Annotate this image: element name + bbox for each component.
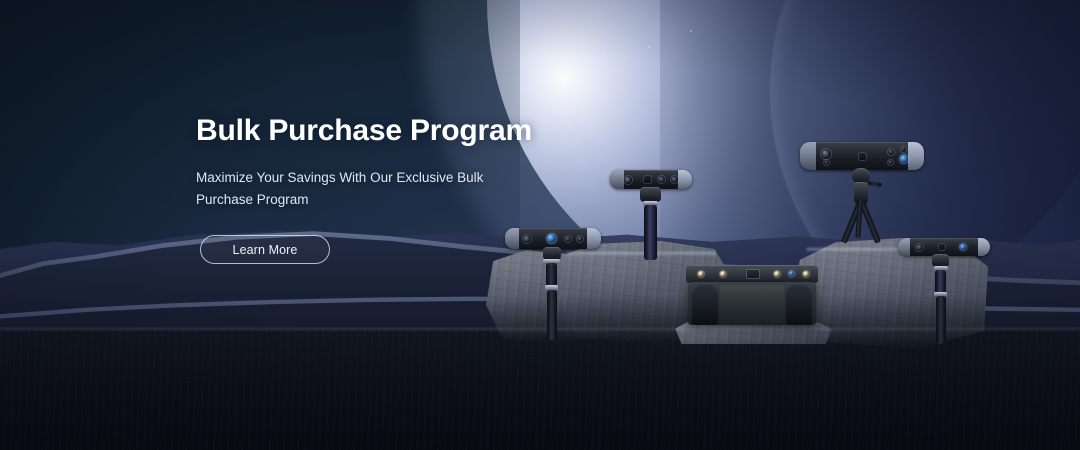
hero-copy: Bulk Purchase Program Maximize Your Savi…	[196, 112, 616, 211]
camera-lens	[624, 176, 632, 184]
page-title: Bulk Purchase Program	[196, 112, 616, 150]
stand-pole	[644, 205, 657, 260]
scanner-case	[686, 265, 818, 325]
scanner-end-cap-right	[587, 228, 601, 249]
scanner-right	[898, 238, 990, 344]
tripod-pan-handle	[868, 181, 882, 187]
stand-pole	[935, 270, 946, 294]
scanner-case-panel	[720, 285, 784, 325]
camera-lens	[888, 149, 894, 155]
mount-knuckle	[640, 187, 661, 202]
scanner-left	[505, 228, 601, 340]
star	[560, 40, 562, 42]
rock-texture	[672, 322, 832, 344]
structured-light-projector	[938, 243, 946, 251]
star	[648, 46, 650, 48]
camera-lens	[671, 176, 678, 183]
scanner-tripod	[800, 142, 924, 242]
ground-texture	[0, 330, 1080, 450]
rock-plinth-center	[672, 322, 832, 344]
learn-more-button[interactable]: Learn More	[200, 235, 330, 264]
star	[603, 52, 605, 54]
hero-subtitle: Maximize Your Savings With Our Exclusive…	[196, 167, 496, 211]
scanner-head	[800, 142, 924, 170]
scanner-end-cap-left	[505, 228, 519, 249]
indicator-light	[720, 271, 726, 277]
camera-lens-projector	[547, 234, 556, 243]
camera-lens	[901, 147, 906, 152]
indicator-light	[803, 271, 809, 277]
brand-badge	[746, 269, 760, 279]
camera-lens-projector	[900, 155, 908, 163]
stand-pole	[936, 296, 946, 344]
camera-lens	[916, 244, 923, 251]
structured-light-projector	[858, 152, 867, 161]
scanner-end-cap-left	[898, 238, 910, 256]
camera-lens	[658, 176, 665, 183]
star	[690, 30, 692, 32]
camera-lens-projector	[960, 244, 966, 250]
indicator-light-blue	[789, 271, 794, 276]
hero-banner: Bulk Purchase Program Maximize Your Savi…	[0, 0, 1080, 450]
stand-pole	[546, 263, 557, 287]
indicator-light	[774, 271, 780, 277]
camera-lens	[523, 235, 531, 243]
structured-light-projector	[643, 175, 652, 184]
scanner-end-cap-right	[978, 238, 990, 256]
scanner-end-cap-left	[800, 142, 816, 170]
scanner-case-lid	[686, 265, 818, 283]
scanner-end-cap-right	[678, 170, 692, 189]
scanner-end-cap-right	[908, 142, 924, 170]
camera-lens	[577, 236, 583, 242]
stand-pole	[547, 290, 557, 340]
scanner-case-foot-left	[692, 285, 718, 325]
camera-lens	[565, 236, 571, 242]
scanner-head	[505, 228, 601, 249]
camera-lens	[821, 149, 831, 159]
star	[625, 58, 627, 60]
camera-lens	[824, 160, 829, 165]
scanner-case-foot-right	[786, 285, 812, 325]
scanner-center	[610, 170, 692, 260]
indicator-light	[698, 271, 704, 277]
camera-lens	[888, 160, 893, 165]
